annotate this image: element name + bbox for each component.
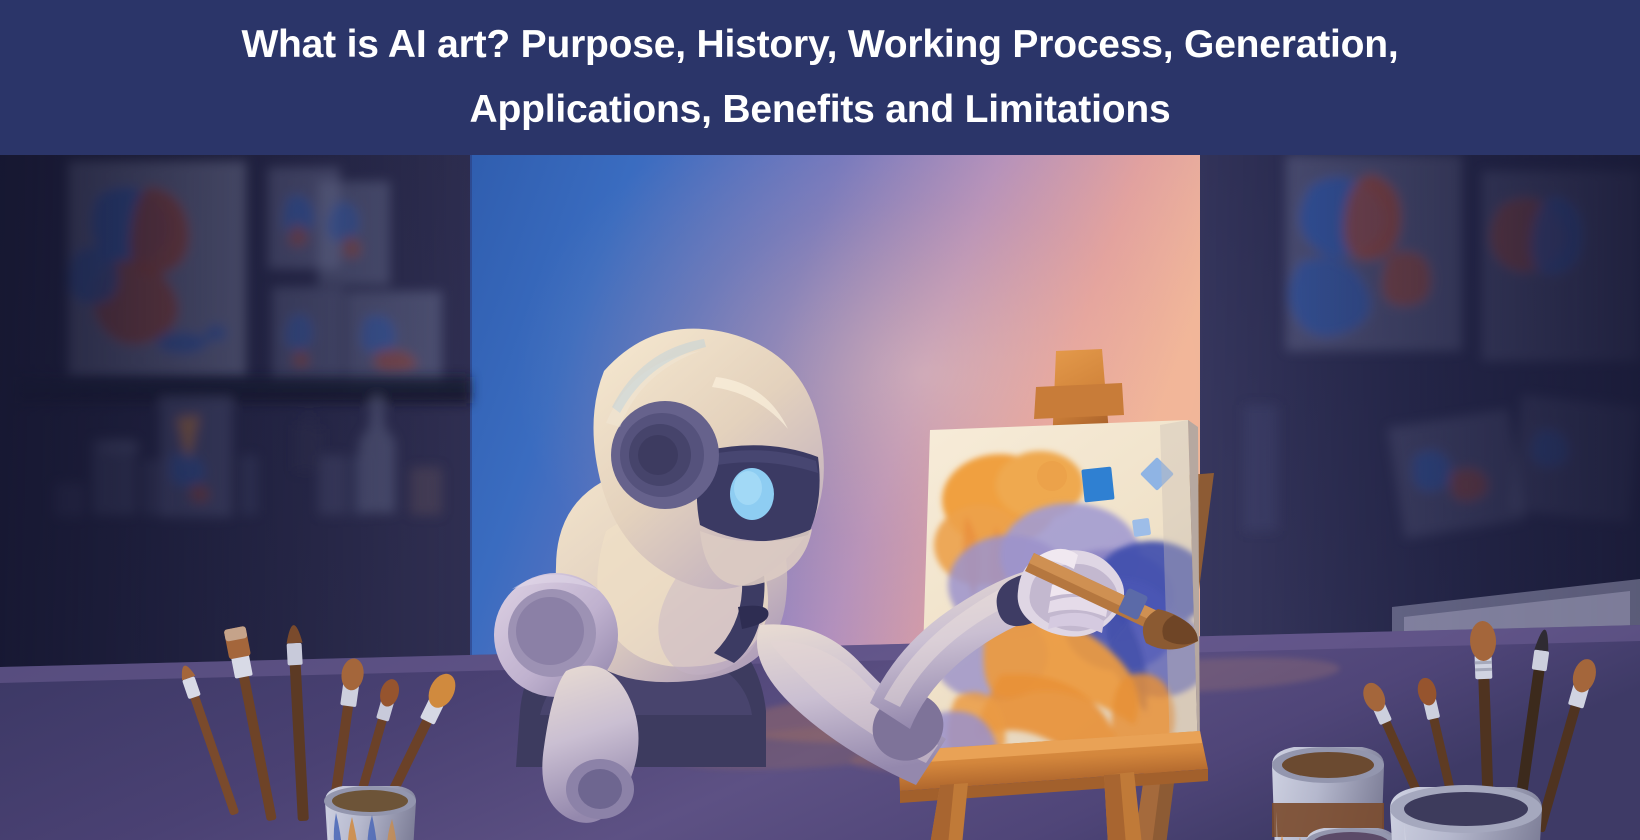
header-banner: What is AI art? Purpose, History, Workin… bbox=[0, 0, 1640, 155]
page-title: What is AI art? Purpose, History, Workin… bbox=[155, 13, 1485, 142]
page-root: What is AI art? Purpose, History, Workin… bbox=[0, 0, 1640, 840]
canvas-shape-square bbox=[1081, 467, 1114, 503]
canvas-shape-square-small bbox=[1132, 518, 1151, 537]
paint-jar-left bbox=[324, 786, 416, 840]
canvas-shape-circle bbox=[1037, 461, 1067, 491]
studio-scene-svg bbox=[0, 155, 1640, 840]
ai-robot-painting-illustration bbox=[0, 155, 1640, 840]
paint-can-right-small bbox=[1305, 828, 1397, 840]
paint-can-right-large bbox=[1272, 747, 1384, 840]
